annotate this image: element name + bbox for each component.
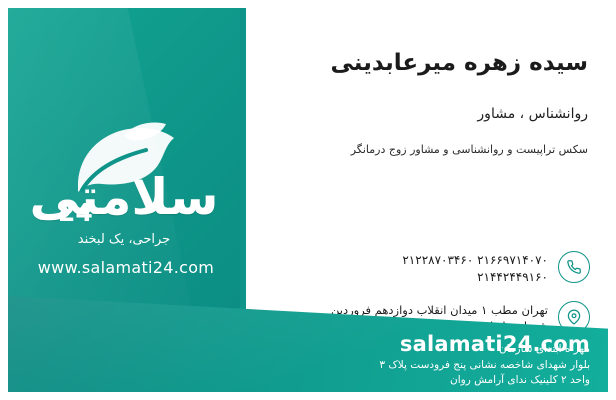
footer-address-line-3: واحد ۲ کلینیک ندای آرامش روان [260,373,590,388]
brand-logo: سلامتی 24 جراحی، یک لبخند www.salamati24… [24,120,224,270]
brand-website: www.salamati24.com [24,258,228,277]
phone-line-1: ۲۱۶۶۹۷۱۴۰۷۰ ۲۱۲۲۸۷۰۳۴۶۰ [242,252,548,269]
person-title: روانشناس ، مشاور [258,106,588,122]
phone-values: ۲۱۶۶۹۷۱۴۰۷۰ ۲۱۲۲۸۷۰۳۴۶۰ ۲۱۴۴۲۴۴۹۱۶۰ [242,251,548,287]
business-card: سلامتی 24 جراحی، یک لبخند www.salamati24… [0,0,616,400]
person-specialty: سکس تراپیست و روانشناسی و مشاور زوج درما… [248,143,588,156]
brand-name: سلامتی [24,172,224,222]
phone-icon [558,251,590,283]
person-name: سیده زهره میرعابدینی [258,50,588,76]
phone-line-2: ۲۱۴۴۲۴۴۹۱۶۰ [242,269,548,286]
footer-address: مهر ه ابتدای سازمان بلوار شهدای شاخصه نش… [260,342,590,388]
brand-tagline: جراحی، یک لبخند [24,232,224,247]
phone-row: ۲۱۶۶۹۷۱۴۰۷۰ ۲۱۲۲۸۷۰۳۴۶۰ ۲۱۴۴۲۴۴۹۱۶۰ [242,251,590,287]
brand-number: 24 [58,198,93,227]
footer-address-line-1: مهر ه ابتدای سازمان [260,342,590,357]
footer-address-line-2: بلوار شهدای شاخصه نشانی پنج فرودست پلاک … [260,358,590,373]
card-inner: سلامتی 24 جراحی، یک لبخند www.salamati24… [8,8,608,392]
